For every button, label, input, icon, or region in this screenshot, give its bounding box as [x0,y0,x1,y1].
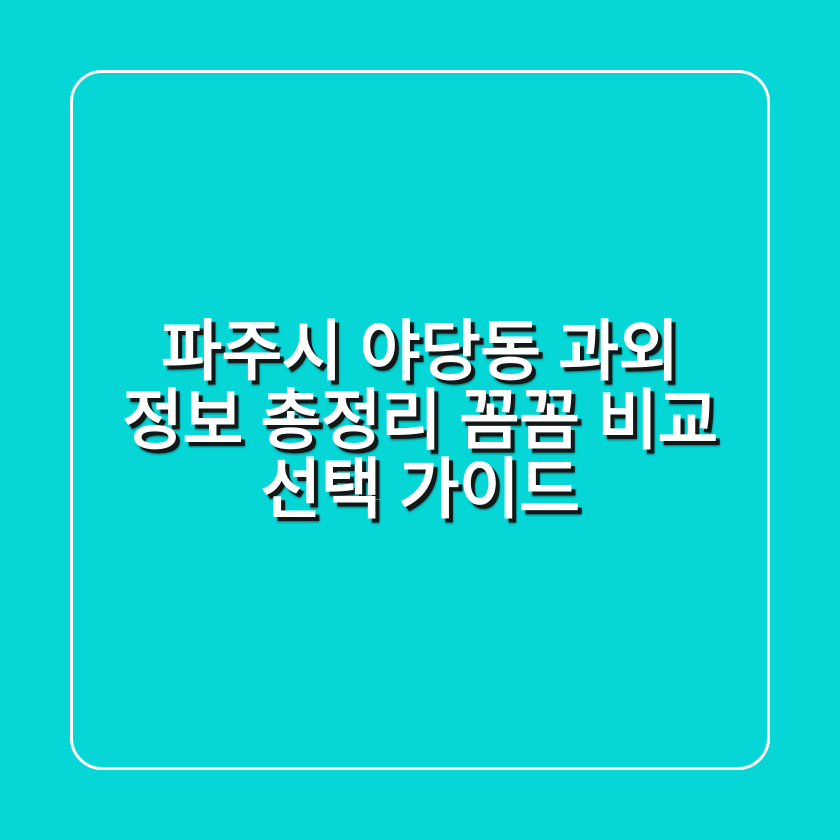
title-line-1: 파주시 야당동 과외 [76,317,764,386]
thumbnail-card: 파주시 야당동 과외 정보 총정리 꼼꼼 비교 선택 가이드 [0,0,840,840]
page-title: 파주시 야당동 과외 정보 총정리 꼼꼼 비교 선택 가이드 [70,317,770,524]
title-line-3: 선택 가이드 [76,455,764,524]
title-line-2: 정보 총정리 꼼꼼 비교 [76,386,764,455]
